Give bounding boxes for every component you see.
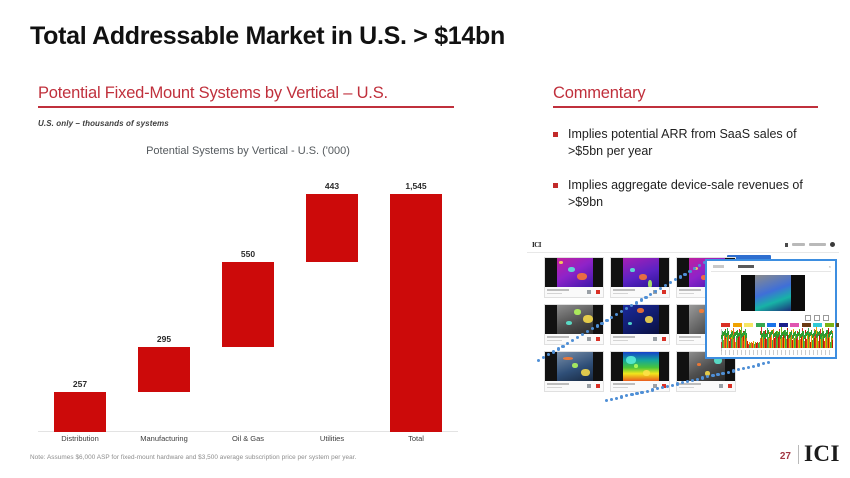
thumbnail-sub-line xyxy=(547,387,562,389)
thumbnail-download-icon xyxy=(719,384,723,388)
x-axis-label-total: Total xyxy=(374,434,458,443)
commentary-heading-underline xyxy=(553,106,818,108)
page-title: Total Addressable Market in U.S. > $14bn xyxy=(30,22,505,51)
thumbnail-meta xyxy=(545,287,603,297)
detail-tab-live xyxy=(713,265,724,268)
thumbnail-sub-line xyxy=(679,340,694,342)
bar-slot: 1,545 xyxy=(374,170,458,432)
bar-slot: 550 xyxy=(206,170,290,432)
x-axis-label-utilities: Utilities xyxy=(290,434,374,443)
commentary-bullet-text: Implies aggregate device-sale revenues o… xyxy=(568,177,825,211)
thumbnail-title-line xyxy=(613,336,635,338)
legend-swatch xyxy=(813,323,822,327)
bar-slot: 443 xyxy=(290,170,374,432)
screenshot-detail-panel: × xyxy=(705,259,837,359)
x-axis-label-manufacturing: Manufacturing xyxy=(122,434,206,443)
thumbnail-download-icon xyxy=(653,337,657,341)
screenshot-filter-icon xyxy=(785,243,788,247)
plot-pan-icon xyxy=(814,315,820,321)
thumbnail-sub-line xyxy=(613,293,628,295)
detail-plot-controls xyxy=(805,315,829,321)
legend-swatch xyxy=(733,323,742,327)
thermal-hotspot xyxy=(645,316,653,323)
thumbnail-download-icon xyxy=(653,384,657,388)
x-axis-label-distribution: Distribution xyxy=(38,434,122,443)
chart-bar-utilities xyxy=(306,194,358,262)
footer-divider xyxy=(798,445,799,464)
x-axis-label-oil-gas: Oil & Gas xyxy=(206,434,290,443)
thermal-hotspot xyxy=(634,364,638,368)
thermal-thumbnail-card xyxy=(610,257,670,298)
thumbnail-meta xyxy=(611,381,669,391)
thumbnail-image xyxy=(611,258,669,288)
thermal-hotspot xyxy=(628,322,632,325)
chart-bar-oil-gas xyxy=(222,262,274,347)
left-section-heading: Potential Fixed-Mount Systems by Vertica… xyxy=(38,84,454,108)
chart-footnote: Note: Assumes $6,000 ASP for fixed-mount… xyxy=(30,454,480,461)
thumbnail-alert-icon xyxy=(596,337,600,341)
thermal-hotspot xyxy=(559,261,563,264)
thermal-hotspot xyxy=(699,309,704,313)
screenshot-menu-item-2 xyxy=(809,243,826,247)
thumbnail-alert-icon xyxy=(728,384,732,388)
legend-swatch xyxy=(721,323,730,327)
plot-reset-icon xyxy=(823,315,829,321)
thermal-thumbnail-card xyxy=(544,351,604,392)
thermal-hotspot xyxy=(581,369,590,376)
detail-tabs xyxy=(713,265,754,268)
thumbnail-image xyxy=(611,305,669,335)
thumbnail-alert-icon xyxy=(662,337,666,341)
thumbnail-meta xyxy=(611,287,669,297)
thermal-hotspot xyxy=(705,371,710,376)
thumbnail-image xyxy=(545,258,603,288)
thumbnail-alert-icon xyxy=(596,384,600,388)
bar-value-label: 550 xyxy=(206,249,290,259)
detail-chart-x-labels xyxy=(721,350,833,355)
commentary-bullet: Implies potential ARR from SaaS sales of… xyxy=(553,126,825,160)
thumbnail-title-line xyxy=(679,383,701,385)
thumbnail-sub-line xyxy=(679,293,694,295)
thumbnail-title-line xyxy=(679,289,701,291)
thermal-hotspot xyxy=(639,274,647,280)
thermal-thumbnail-card xyxy=(544,304,604,345)
left-section-heading-label: Potential Fixed-Mount Systems by Vertica… xyxy=(38,84,454,103)
thumbnail-alert-icon xyxy=(662,290,666,294)
screenshot-menu-item-1 xyxy=(792,243,805,247)
thermal-hotspot xyxy=(563,357,573,360)
commentary-heading-label: Commentary xyxy=(553,84,818,103)
thumbnail-image xyxy=(545,305,603,335)
thumbnail-title-line xyxy=(547,289,569,291)
bar-slot: 257 xyxy=(38,170,122,432)
bar-value-label: 295 xyxy=(122,334,206,344)
thumbnail-title-line xyxy=(679,336,701,338)
thermal-hotspot xyxy=(697,363,701,366)
thumbnail-sub-line xyxy=(547,340,562,342)
chart-bar-manufacturing xyxy=(138,347,190,392)
detail-thermal-image xyxy=(741,275,805,311)
thermal-thumbnail-card xyxy=(610,304,670,345)
screenshot-app-header: ICI xyxy=(527,239,839,253)
thumbnail-download-icon xyxy=(587,290,591,294)
thumbnail-sub-line xyxy=(613,340,628,342)
thumbnail-image xyxy=(545,352,603,382)
thumbnail-alert-icon xyxy=(662,384,666,388)
detail-close-icon: × xyxy=(829,264,831,269)
thermal-hotspot xyxy=(572,363,578,368)
detail-chart-legend xyxy=(721,323,839,327)
detail-thermal-core xyxy=(755,275,791,311)
thermal-hotspot xyxy=(574,309,581,315)
thermal-hotspot xyxy=(568,267,575,272)
timeseries-envelope xyxy=(746,333,747,337)
timeseries-envelope xyxy=(832,333,833,337)
legend-swatch xyxy=(825,323,834,327)
screenshot-header-tools xyxy=(785,242,835,247)
chart-x-axis: DistributionManufacturingOil & GasUtilit… xyxy=(38,434,458,448)
thumbnail-meta xyxy=(677,381,735,391)
bar-value-label: 443 xyxy=(290,181,374,191)
thumbnail-download-icon xyxy=(587,384,591,388)
thumbnail-title-line xyxy=(547,383,569,385)
detail-timeseries-chart xyxy=(721,329,833,351)
timeseries-spike xyxy=(832,340,833,348)
chart-subnote: U.S. only – thousands of systems xyxy=(38,119,169,128)
commentary-bullet: Implies aggregate device-sale revenues o… xyxy=(553,177,825,211)
thumbnail-sub-line xyxy=(547,293,562,295)
thumbnail-meta xyxy=(611,334,669,344)
slide-root: Total Addressable Market in U.S. > $14bn… xyxy=(0,0,850,478)
thermal-hotspot xyxy=(630,268,635,272)
thermal-thumbnail-card xyxy=(610,351,670,392)
chart-title: Potential Systems by Vertical - U.S. ('0… xyxy=(38,145,458,157)
bullet-marker-icon xyxy=(553,183,558,188)
thermal-hotspot xyxy=(626,356,636,364)
legend-swatch xyxy=(779,323,788,327)
thumbnail-meta xyxy=(545,334,603,344)
detail-tab-trend xyxy=(738,265,754,268)
thermal-hotspot xyxy=(643,370,650,376)
thumbnail-title-line xyxy=(547,336,569,338)
product-screenshot: ICI × xyxy=(527,239,839,411)
thumbnail-sub-line xyxy=(679,387,694,389)
thumbnail-alert-icon xyxy=(596,290,600,294)
legend-swatch xyxy=(756,323,765,327)
chart-bar-total xyxy=(390,194,442,432)
screenshot-app-logo: ICI xyxy=(532,241,541,249)
commentary-bullet-text: Implies potential ARR from SaaS sales of… xyxy=(568,126,825,160)
waterfall-chart: 2572955504431,545 xyxy=(38,170,458,432)
legend-swatch xyxy=(744,323,753,327)
thermal-hotspot xyxy=(583,315,593,323)
screenshot-avatar xyxy=(830,242,835,247)
thermal-hotspot xyxy=(566,321,572,325)
commentary-bullet-list: Implies potential ARR from SaaS sales of… xyxy=(553,126,825,228)
left-heading-underline xyxy=(38,106,454,108)
thumbnail-meta xyxy=(545,381,603,391)
chart-bar-distribution xyxy=(54,392,106,432)
thumbnail-title-line xyxy=(613,289,635,291)
company-logo: ICI xyxy=(804,441,840,467)
thumbnail-download-icon xyxy=(587,337,591,341)
plot-zoom-icon xyxy=(805,315,811,321)
bar-value-label: 1,545 xyxy=(374,181,458,191)
legend-swatch xyxy=(836,323,839,327)
legend-swatch xyxy=(790,323,799,327)
thermal-hotspot xyxy=(577,273,587,280)
page-number: 27 xyxy=(780,451,791,462)
bullet-marker-icon xyxy=(553,132,558,137)
bar-slot: 295 xyxy=(122,170,206,432)
legend-swatch xyxy=(767,323,776,327)
legend-swatch xyxy=(802,323,811,327)
thermal-thumbnail-card xyxy=(544,257,604,298)
bar-value-label: 257 xyxy=(38,379,122,389)
thumbnail-title-line xyxy=(613,383,635,385)
thermal-gradient xyxy=(623,258,659,288)
thermal-hotspot xyxy=(693,267,698,270)
thermal-hotspot xyxy=(637,308,644,313)
commentary-heading: Commentary xyxy=(553,84,818,108)
detail-tab-underline xyxy=(711,271,831,272)
thumbnail-download-icon xyxy=(653,290,657,294)
thumbnail-image xyxy=(611,352,669,382)
thumbnail-sub-line xyxy=(613,387,628,389)
